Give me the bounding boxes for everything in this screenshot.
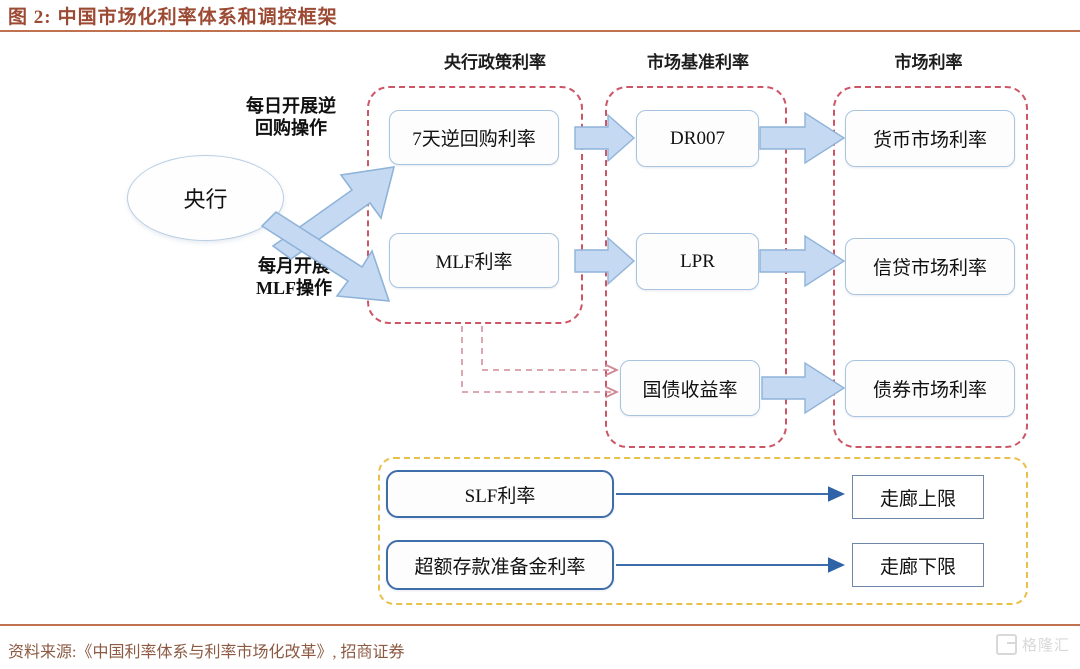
column-caption-benchmark: 市场基准利率 bbox=[608, 48, 788, 73]
node-label: MLF利率 bbox=[435, 247, 512, 274]
page-title: 图 2:中国市场化利率体系和调控框架 bbox=[8, 2, 338, 29]
node-label: DR007 bbox=[670, 128, 725, 150]
title-divider bbox=[0, 30, 1080, 32]
node-money-market-rate[interactable]: 货币市场利率 bbox=[845, 110, 1015, 167]
column-caption-market: 市场利率 bbox=[856, 48, 1001, 73]
node-bond-market-rate[interactable]: 债券市场利率 bbox=[845, 360, 1015, 417]
figure-number: 图 2: bbox=[8, 7, 52, 28]
node-label: 走廊上限 bbox=[880, 484, 956, 511]
edge-label-line-2: 回购操作 bbox=[226, 118, 356, 140]
figure-title-text: 中国市场化利率体系和调控框架 bbox=[58, 7, 338, 28]
node-label: 国债收益率 bbox=[642, 375, 737, 402]
node-label: 信贷市场利率 bbox=[873, 253, 987, 280]
node-label: 超额存款准备金利率 bbox=[414, 552, 585, 579]
edge-label-monthly-mlf: 每月开展 MLF操作 bbox=[234, 256, 354, 300]
edge-label-daily-reverse-repo: 每日开展逆 回购操作 bbox=[226, 96, 356, 140]
node-credit-market-rate[interactable]: 信贷市场利率 bbox=[845, 238, 1015, 295]
node-label: 债券市场利率 bbox=[873, 375, 987, 402]
node-label: SLF利率 bbox=[465, 481, 536, 508]
source-note: 资料来源:《中国利率体系与利率市场化改革》, 招商证券 bbox=[8, 638, 404, 662]
node-excess-reserve-rate[interactable]: 超额存款准备金利率 bbox=[386, 540, 614, 590]
node-label: LPR bbox=[680, 251, 715, 273]
watermark-text: 格隆汇 bbox=[1022, 634, 1070, 655]
node-mlf-rate[interactable]: MLF利率 bbox=[389, 233, 559, 288]
node-label: 走廊下限 bbox=[880, 552, 956, 579]
node-treasury-yield[interactable]: 国债收益率 bbox=[620, 360, 760, 416]
node-slf-rate[interactable]: SLF利率 bbox=[386, 470, 614, 518]
edge-label-line-1: 每月开展 bbox=[234, 256, 354, 278]
node-label: 7天逆回购利率 bbox=[412, 124, 536, 151]
footer-divider bbox=[0, 624, 1080, 626]
dashed-link-policy-to-treasury bbox=[462, 326, 616, 392]
node-dr007[interactable]: DR007 bbox=[636, 110, 759, 167]
node-central-bank[interactable]: 央行 bbox=[127, 155, 284, 241]
column-caption-policy: 央行政策利率 bbox=[395, 48, 595, 73]
edge-label-line-2: MLF操作 bbox=[234, 278, 354, 300]
edge-label-line-1: 每日开展逆 bbox=[226, 96, 356, 118]
node-central-bank-label: 央行 bbox=[183, 182, 227, 214]
node-label: 货币市场利率 bbox=[873, 125, 987, 152]
node-lpr[interactable]: LPR bbox=[636, 233, 759, 290]
node-corridor-lower-bound[interactable]: 走廊下限 bbox=[852, 543, 984, 587]
figure-canvas: 图 2:中国市场化利率体系和调控框架 央行政策利率 市场基准利率 市场利率 央行… bbox=[0, 0, 1080, 669]
node-7day-reverse-repo-rate[interactable]: 7天逆回购利率 bbox=[389, 110, 559, 165]
watermark: 格隆汇 bbox=[996, 634, 1070, 655]
watermark-logo-icon bbox=[996, 634, 1017, 655]
node-corridor-upper-bound[interactable]: 走廊上限 bbox=[852, 475, 984, 519]
